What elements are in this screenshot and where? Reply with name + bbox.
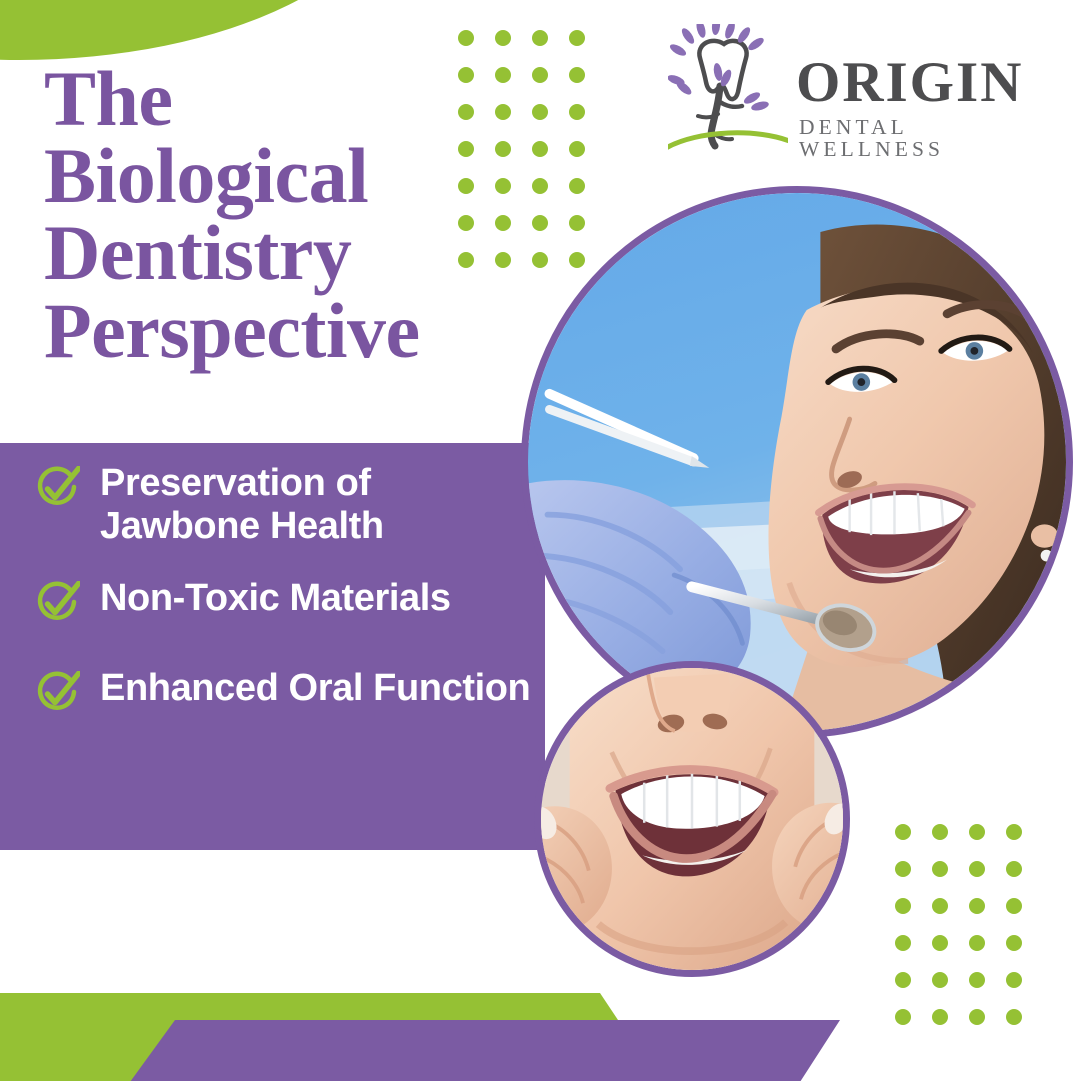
decorative-dot bbox=[532, 141, 548, 157]
decorative-dot bbox=[932, 861, 948, 877]
decorative-dot bbox=[1006, 861, 1022, 877]
decorative-dot bbox=[932, 972, 948, 988]
list-item: Enhanced Oral Function bbox=[34, 667, 534, 717]
poster-canvas: ORIGIN DENTAL WELLNESS The Biological De… bbox=[0, 0, 1082, 1081]
benefits-list: Preservation of Jawbone Health Non-Toxic… bbox=[34, 462, 534, 717]
list-item: Non-Toxic Materials bbox=[34, 577, 534, 627]
dental-patient-photo bbox=[521, 186, 1073, 738]
decorative-dot bbox=[1006, 1009, 1022, 1025]
decorative-dot bbox=[895, 861, 911, 877]
decorative-dot bbox=[458, 30, 474, 46]
decorative-dot bbox=[532, 104, 548, 120]
list-item-label: Enhanced Oral Function bbox=[100, 667, 530, 710]
brand-logo[interactable]: ORIGIN DENTAL WELLNESS bbox=[668, 24, 1058, 154]
decorative-dot bbox=[1006, 898, 1022, 914]
decorative-dot bbox=[895, 972, 911, 988]
list-item-label: Preservation of Jawbone Health bbox=[100, 462, 534, 549]
purple-bottom-band-shape bbox=[130, 1020, 840, 1081]
decorative-dot bbox=[895, 824, 911, 840]
decorative-dot bbox=[569, 141, 585, 157]
decorative-dot bbox=[495, 30, 511, 46]
decorative-dot bbox=[932, 898, 948, 914]
decorative-dot bbox=[895, 935, 911, 951]
check-circle-icon bbox=[34, 581, 80, 627]
logo-name: ORIGIN bbox=[796, 54, 1058, 111]
page-title: The Biological Dentistry Perspective bbox=[44, 60, 514, 369]
decorative-dot bbox=[1006, 824, 1022, 840]
decorative-dot bbox=[895, 898, 911, 914]
decorative-dot bbox=[1006, 935, 1022, 951]
headline-line-1: The bbox=[44, 60, 514, 137]
decorative-dot bbox=[969, 861, 985, 877]
decorative-dot bbox=[569, 178, 585, 194]
decorative-dot bbox=[969, 972, 985, 988]
smile-closeup-photo bbox=[534, 661, 850, 977]
logo-tagline: DENTAL WELLNESS bbox=[799, 117, 1058, 160]
list-item: Preservation of Jawbone Health bbox=[34, 462, 534, 549]
green-top-curve-shape bbox=[0, 0, 400, 60]
decorative-dot bbox=[969, 898, 985, 914]
check-circle-icon bbox=[34, 671, 80, 717]
logo-wordmark: ORIGIN DENTAL WELLNESS bbox=[796, 54, 1058, 160]
headline-line-4: Perspective bbox=[44, 292, 514, 369]
decorative-dot bbox=[969, 1009, 985, 1025]
check-circle-icon bbox=[34, 466, 80, 512]
decorative-dot bbox=[569, 104, 585, 120]
decorative-dot bbox=[569, 67, 585, 83]
tree-tooth-icon bbox=[668, 24, 788, 154]
headline-line-2: Biological bbox=[44, 137, 514, 214]
decorative-dot bbox=[569, 30, 585, 46]
decorative-dot bbox=[532, 30, 548, 46]
decorative-dot bbox=[895, 1009, 911, 1025]
decorative-dot bbox=[969, 935, 985, 951]
decorative-dot bbox=[532, 67, 548, 83]
decorative-dot bbox=[932, 1009, 948, 1025]
decorative-dot bbox=[532, 178, 548, 194]
list-item-label: Non-Toxic Materials bbox=[100, 577, 451, 620]
dot-grid-bottom bbox=[895, 824, 1043, 1046]
decorative-dot bbox=[969, 824, 985, 840]
decorative-dot bbox=[932, 824, 948, 840]
decorative-dot bbox=[1006, 972, 1022, 988]
headline-line-3: Dentistry bbox=[44, 214, 514, 291]
decorative-dot bbox=[932, 935, 948, 951]
